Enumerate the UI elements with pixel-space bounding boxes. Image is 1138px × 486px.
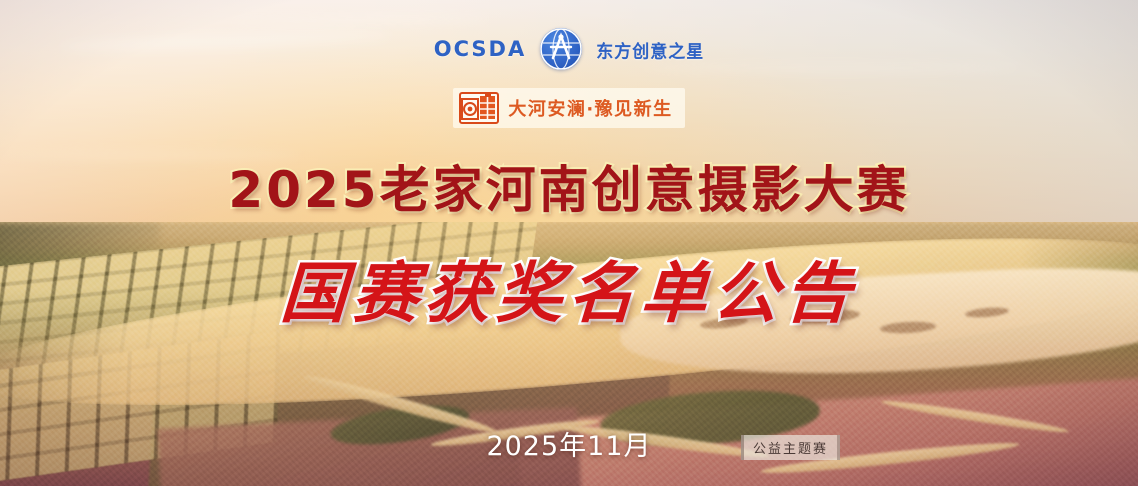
ocsda-wordmark: OCSDA bbox=[434, 37, 526, 61]
cloud-streak bbox=[230, 14, 490, 28]
campaign-slogan-text: 大河安澜·豫见新生 bbox=[508, 95, 672, 121]
camera-seal-icon bbox=[459, 92, 499, 124]
globe-star-icon bbox=[540, 28, 582, 70]
contest-title-line1: 2025老家河南创意摄影大赛 bbox=[0, 150, 1138, 222]
publication-date: 2025年11月 bbox=[0, 424, 1138, 463]
organizer-logo-row: OCSDA 东方创意之星 bbox=[0, 28, 1138, 70]
poster-canvas: OCSDA 东方创意之星 bbox=[0, 0, 1138, 486]
campaign-slogan-row: 大河安澜·豫见新生 bbox=[0, 88, 1138, 128]
status-badge: 公益主题赛 bbox=[741, 435, 840, 460]
organizer-name-cn: 东方创意之星 bbox=[596, 36, 704, 62]
slogan-seal-box: 大河安澜·豫见新生 bbox=[453, 88, 684, 128]
announcement-title-line2: 国赛获奖名单公告 bbox=[0, 240, 1138, 336]
